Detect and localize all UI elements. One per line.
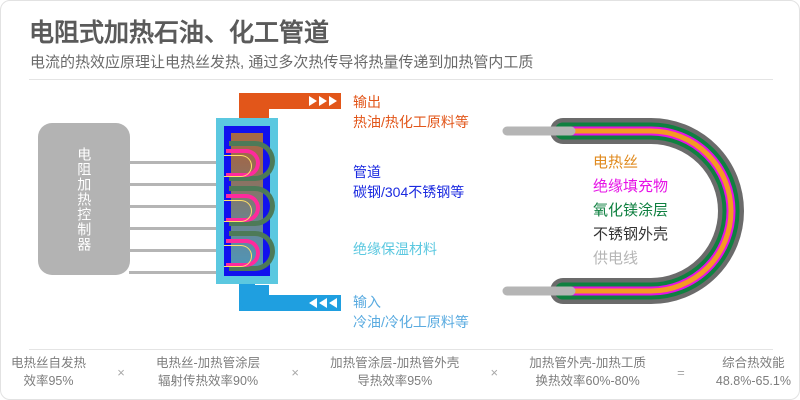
layer-label-stainless-shell: 不锈钢外壳 [593, 223, 668, 244]
layer-label-insulating-filler: 绝缘填充物 [593, 175, 668, 196]
layer-label-heating-wire: 电热丝 [593, 151, 638, 172]
formula-term: 电热丝-加热管涂层 辐射传热效率90% [156, 355, 260, 391]
formula-term: 加热管涂层-加热管外壳 导热效率95% [330, 355, 459, 391]
controller-label: 电阻加热控制器 [38, 123, 130, 275]
heating-element [229, 186, 275, 226]
formula-operator: = [675, 365, 687, 380]
efficiency-formula: 电热丝自发热 效率95% × 电热丝-加热管涂层 辐射传热效率90% × 加热管… [11, 355, 791, 391]
formula-term-line1: 加热管外壳-加热工质 [529, 355, 646, 373]
heating-element [229, 141, 275, 181]
output-label: 输出 [353, 92, 381, 112]
formula-term-line2: 导热效率95% [330, 373, 459, 391]
formula-operator: × [488, 365, 500, 380]
formula-result-line2: 48.8%-65.1% [716, 373, 791, 391]
input-label: 输入 [353, 292, 381, 312]
formula-term-line1: 加热管涂层-加热管外壳 [330, 355, 459, 373]
resistance-heating-controller: 电阻加热控制器 [38, 123, 130, 275]
input-detail: 冷油/冷化工原料等 [353, 312, 469, 332]
formula-operator: × [115, 365, 127, 380]
formula-term-line1: 电热丝-加热管涂层 [156, 355, 260, 373]
formula-term-line2: 效率95% [11, 373, 86, 391]
formula-term: 电热丝自发热 效率95% [11, 355, 86, 391]
formula-divider [29, 349, 773, 350]
formula-term: 加热管外壳-加热工质 换热效率60%-80% [529, 355, 646, 391]
output-detail: 热油/热化工原料等 [353, 112, 469, 132]
diagram-card: 电阻式加热石油、化工管道 电流的热效应原理让电热丝发热, 通过多次热传导将热量传… [0, 0, 800, 400]
formula-term-line2: 辐射传热效率90% [156, 373, 260, 391]
formula-term-line1: 电热丝自发热 [11, 355, 86, 373]
formula-operator: × [289, 365, 301, 380]
insulation-label: 绝缘保温材料 [353, 239, 437, 259]
formula-result: 综合热效能 48.8%-65.1% [716, 355, 791, 391]
pipe-detail: 碳钢/304不锈钢等 [353, 182, 464, 202]
layer-label-mgo-coating: 氧化镁涂层 [593, 199, 668, 220]
output-flow-arrows-icon [309, 96, 337, 106]
layer-label-power-line: 供电线 [593, 247, 638, 268]
heating-element [229, 231, 275, 271]
formula-result-line1: 综合热效能 [716, 355, 791, 373]
pipe-label: 管道 [353, 162, 381, 182]
page-title: 电阻式加热石油、化工管道 [29, 13, 329, 49]
page-subtitle: 电流的热效应原理让电热丝发热, 通过多次热传导将热量传递到加热管内工质 [30, 51, 533, 72]
input-flow-arrows-icon [309, 298, 337, 308]
header-divider [29, 79, 773, 80]
formula-term-line2: 换热效率60%-80% [529, 373, 646, 391]
